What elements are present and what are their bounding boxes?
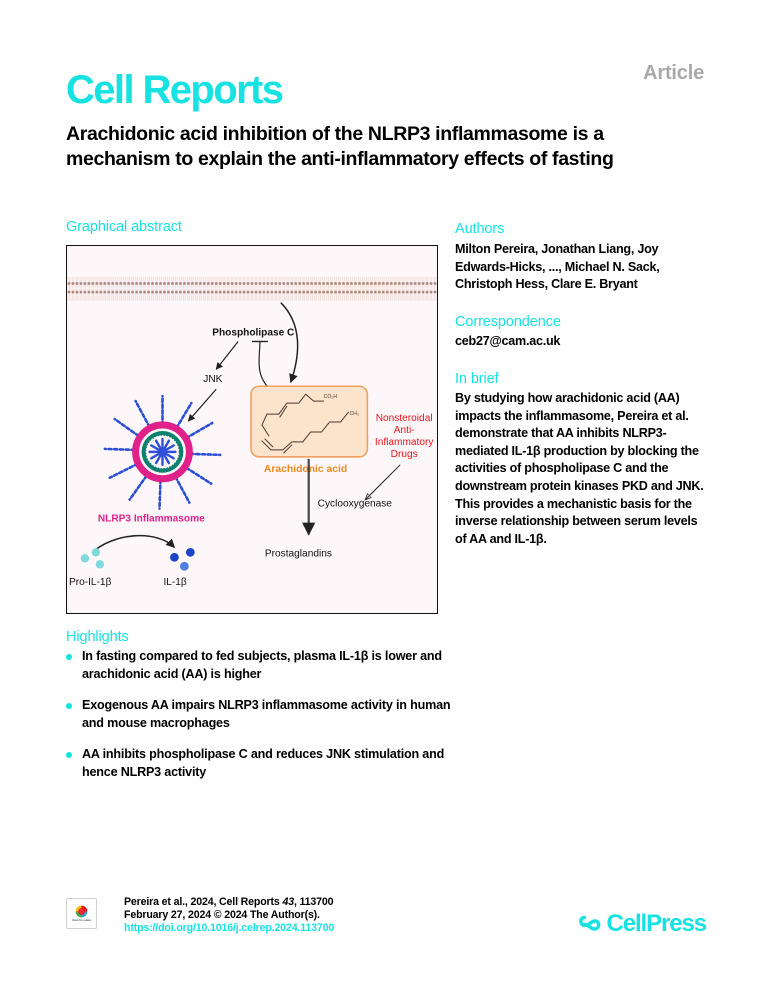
- graphical-abstract-heading: Graphical abstract: [66, 219, 182, 235]
- paper-cover-page: Article Cell Reports Arachidonic acid in…: [0, 0, 770, 1000]
- arrow-membrane-to-aa: [281, 303, 298, 383]
- in-brief-text: By studying how arachidonic acid (AA) im…: [455, 390, 707, 548]
- highlight-text: In fasting compared to fed subjects, pla…: [82, 648, 451, 683]
- label-prostaglandins: Prostaglandins: [265, 548, 332, 559]
- nlrp3-inflammasome-graphic: [105, 396, 220, 508]
- bullet-icon: [66, 703, 72, 709]
- page-title: Arachidonic acid inhibition of the NLRP3…: [66, 122, 706, 171]
- label-nsaid-line2: Anti-: [394, 425, 415, 436]
- cellpress-logo[interactable]: CellPress: [577, 910, 706, 938]
- label-phospholipase-c: Phospholipase C: [212, 328, 295, 339]
- label-ch3: CH₃: [349, 411, 359, 417]
- highlight-text: AA inhibits phospholipase C and reduces …: [82, 746, 451, 781]
- crossmark-icon: [75, 905, 88, 918]
- citation-line-2: February 27, 2024 © 2024 The Author(s).: [124, 909, 334, 922]
- citation-prefix: Pereira et al., 2024, Cell Reports: [124, 896, 282, 908]
- label-co2h: CO₂H: [324, 394, 338, 400]
- pro-il1b-dots: [81, 548, 104, 568]
- graphical-abstract-svg: Phospholipase C JNK: [67, 246, 437, 613]
- footer-citation: Pereira et al., 2024, Cell Reports 43, 1…: [124, 896, 334, 936]
- label-cyclooxygenase: Cyclooxygenase: [318, 499, 393, 510]
- label-jnk: JNK: [203, 374, 222, 385]
- citation-line-1: Pereira et al., 2024, Cell Reports 43, 1…: [124, 896, 334, 909]
- graphical-abstract-figure: Phospholipase C JNK: [66, 245, 438, 614]
- cellpress-mark-icon: [577, 912, 603, 936]
- arrow-proil1b-to-il1b: [96, 536, 175, 550]
- label-nsaid-line1: Nonsteroidal: [376, 413, 433, 424]
- highlights-list: In fasting compared to fed subjects, pla…: [66, 648, 451, 795]
- highlights-heading: Highlights: [66, 629, 129, 645]
- authors-list: Milton Pereira, Jonathan Liang, Joy Edwa…: [455, 241, 707, 294]
- list-item: In fasting compared to fed subjects, pla…: [66, 648, 451, 683]
- in-brief-heading: In brief: [455, 371, 707, 387]
- bullet-icon: [66, 752, 72, 758]
- citation-volume: 43: [282, 896, 293, 908]
- label-nsaid-line4: Drugs: [391, 449, 418, 460]
- il1b-dots: [170, 548, 195, 571]
- plasma-membrane: [67, 277, 437, 301]
- crossmark-label: Check for updates: [72, 919, 91, 922]
- authors-heading: Authors: [455, 221, 707, 237]
- label-il1b: IL-1β: [163, 577, 186, 588]
- arrow-plc-to-jnk: [216, 341, 238, 369]
- label-nsaid-line3: Inflammatory: [375, 437, 434, 448]
- label-pro-il1b: Pro-IL-1β: [69, 577, 112, 588]
- crossmark-badge[interactable]: Check for updates: [66, 898, 97, 929]
- arrow-aa-inhibits-plc: [259, 341, 272, 391]
- bullet-icon: [66, 654, 72, 660]
- correspondence-email[interactable]: ceb27@cam.ac.uk: [455, 333, 707, 351]
- cellpress-wordmark: CellPress: [606, 910, 706, 938]
- correspondence-heading: Correspondence: [455, 314, 707, 330]
- article-type-label: Article: [643, 62, 704, 85]
- list-item: Exogenous AA impairs NLRP3 inflammasome …: [66, 697, 451, 732]
- list-item: AA inhibits phospholipase C and reduces …: [66, 746, 451, 781]
- label-arachidonic-acid: Arachidonic acid: [264, 464, 347, 475]
- citation-suffix: , 113700: [294, 896, 333, 908]
- arachidonic-acid-box: CO₂H CH₃: [251, 386, 367, 457]
- journal-title: Cell Reports: [66, 70, 282, 110]
- inflammasome-core-dot: [159, 448, 166, 455]
- arrow-jnk-to-inflammasome: [188, 389, 216, 421]
- label-nsaid: Nonsteroidal Anti- Inflammatory Drugs: [375, 413, 434, 460]
- highlight-text: Exogenous AA impairs NLRP3 inflammasome …: [82, 697, 451, 732]
- doi-link[interactable]: https://doi.org/10.1016/j.celrep.2024.11…: [124, 922, 334, 935]
- arrow-nsaid-inhibits-cox: [365, 465, 400, 500]
- label-nlrp3-inflammasome: NLRP3 Inflammasome: [98, 513, 205, 524]
